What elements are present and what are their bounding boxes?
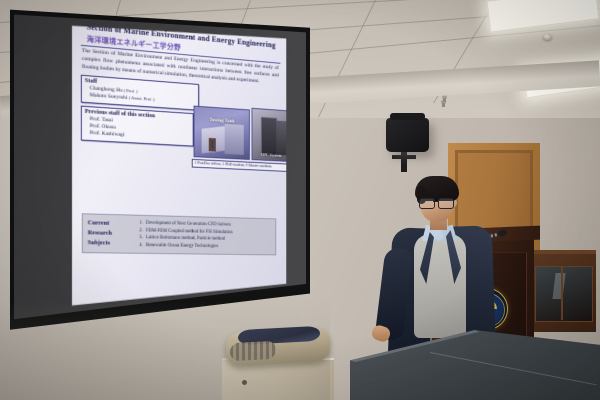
item-text: Renewable Ocean Energy Technologies — [146, 243, 218, 249]
hpc-system-label: HPC System — [252, 151, 286, 158]
glass-door-cabinet[interactable] — [530, 250, 596, 332]
item-text: Lattice Boltzmann method, Particle metho… — [146, 235, 225, 241]
label-line: Research — [88, 228, 132, 239]
item-number: 1. — [139, 221, 143, 226]
research-subjects-list: 1. Development of Next Generation CFD So… — [139, 220, 271, 251]
sweater — [414, 234, 466, 338]
current-research-subjects-box: Current Research Subjects 1. Development… — [82, 213, 276, 255]
staff-member-role: ( Prof. ) — [124, 88, 138, 94]
item-number: 2. — [139, 228, 143, 233]
label-line: Subjects — [88, 238, 132, 248]
towing-tank-label: Towing Tank — [194, 116, 249, 125]
eyeglasses — [419, 198, 455, 207]
cabinet-divider — [561, 266, 563, 320]
item-text: Development of Next Generation CFD Solve… — [146, 221, 231, 228]
item-number: 3. — [139, 235, 143, 240]
lecture-room-photo: Section of Marine Environment and Energy… — [0, 0, 600, 400]
research-subject-item: 4. Renewable Ocean Energy Technologies — [139, 242, 271, 251]
projected-slide: Section of Marine Environment and Energy… — [72, 17, 286, 307]
slide-photo-row: Towing Tank HPC System 1 PostDoc fellow,… — [81, 97, 281, 168]
towing-tank-photo: Towing Tank — [194, 105, 250, 159]
research-subjects-label: Current Research Subjects — [88, 218, 132, 248]
cabinet-glass — [535, 266, 593, 322]
hpc-system-photo: HPC System — [252, 108, 287, 162]
wall-speaker — [386, 118, 429, 152]
smoke-detector — [543, 34, 552, 40]
item-number: 4. — [139, 243, 143, 248]
speaker-mount-bracket — [401, 150, 407, 172]
wall-shadow — [0, 300, 330, 400]
